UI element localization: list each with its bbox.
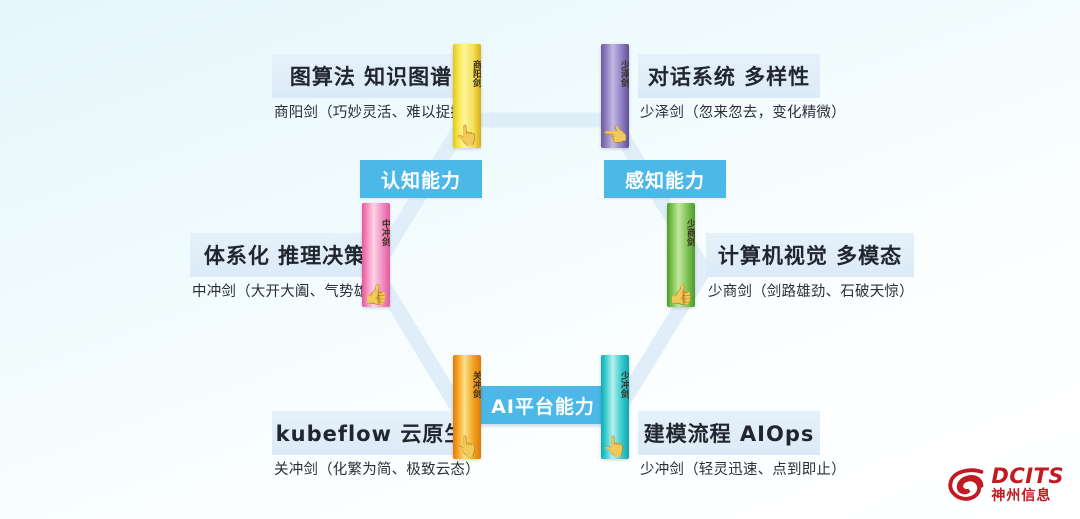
pillar-label-zhongchong: 中冲剑 (362, 210, 390, 254)
pillar-shangyang-sword: 商阳剑 👆 (453, 44, 481, 148)
node-title-cloud-native: kubeflow 云原生 (276, 418, 467, 448)
pillar-label-shangyang: 商阳剑 (453, 51, 481, 95)
node-banner-dialogue-system: 对话系统 多样性 (638, 54, 820, 98)
node-caption-cloud-native: 关冲剑（化繁为简、极致云态） (274, 458, 480, 479)
thumbs-up-hand-icon: 👍 (667, 283, 695, 305)
node-caption-knowledge-graph: 商阳剑（巧妙灵活、难以捉摸） (274, 101, 480, 122)
logo-name-en: DCITS (991, 466, 1064, 487)
capability-chip-perception[interactable]: 感知能力 (604, 160, 726, 198)
dcits-swoosh-logo-icon (947, 468, 985, 502)
node-banner-cloud-native: kubeflow 云原生 (272, 411, 470, 455)
node-caption-dialogue-system: 少泽剑（忽来忽去，变化精微） (640, 101, 846, 122)
logo-name-cn: 神州信息 (991, 489, 1064, 503)
capability-chip-perception-label: 感知能力 (625, 166, 705, 193)
node-banner-reasoning-decision: 体系化 推理决策 (190, 233, 380, 277)
pillar-label-guanchong: 关冲剑 (453, 362, 481, 406)
node-title-reasoning-decision: 体系化 推理决策 (204, 240, 366, 270)
slide-canvas: 图算法 知识图谱 商阳剑（巧妙灵活、难以捉摸） 商阳剑 👆 少泽剑 👈 对话系统… (0, 0, 1080, 519)
pillar-label-shaochong: 少冲剑 (601, 362, 629, 406)
brand-logo: DCITS 神州信息 (947, 466, 1064, 503)
pillar-guanchong-sword: 关冲剑 👆 (453, 355, 481, 459)
node-caption-computer-vision: 少商剑（剑路雄劲、石破天惊） (708, 280, 914, 301)
pillar-label-shaoshang: 少商剑 (667, 210, 695, 254)
pillar-label-shaoze: 少泽剑 (601, 51, 629, 95)
node-banner-knowledge-graph: 图算法 知识图谱 (272, 54, 470, 98)
pointing-left-hand-icon: 👈 (601, 124, 629, 146)
thumbs-up-hand-icon: 👍 (362, 283, 390, 305)
node-title-dialogue-system: 对话系统 多样性 (648, 61, 810, 91)
pointing-up-hand-icon: 👆 (453, 124, 481, 146)
pillar-shaoshang-sword: 少商剑 👍 (667, 203, 695, 307)
pointing-up-hand-icon: 👆 (453, 435, 481, 457)
pointing-up-hand-icon: 👆 (601, 435, 629, 457)
node-caption-aiops: 少冲剑（轻灵迅速、点到即止） (640, 458, 846, 479)
logo-wordmark: DCITS 神州信息 (991, 466, 1064, 503)
node-title-aiops: 建模流程 AIOps (644, 418, 815, 448)
pillar-shaochong-sword: 少冲剑 👆 (601, 355, 629, 459)
node-title-computer-vision: 计算机视觉 多模态 (718, 240, 902, 270)
pillar-shaoze-sword: 少泽剑 👈 (601, 44, 629, 148)
capability-chip-ai-platform-label: AI平台能力 (491, 392, 595, 419)
pillar-zhongchong-sword: 中冲剑 👍 (362, 203, 390, 307)
node-title-knowledge-graph: 图算法 知识图谱 (290, 61, 452, 91)
capability-chip-cognitive[interactable]: 认知能力 (360, 160, 482, 198)
hexagon-connector-ribbon (0, 0, 1080, 519)
capability-chip-cognitive-label: 认知能力 (381, 166, 461, 193)
node-banner-computer-vision: 计算机视觉 多模态 (706, 233, 914, 277)
capability-chip-ai-platform[interactable]: AI平台能力 (478, 386, 608, 424)
node-banner-aiops: 建模流程 AIOps (638, 411, 820, 455)
